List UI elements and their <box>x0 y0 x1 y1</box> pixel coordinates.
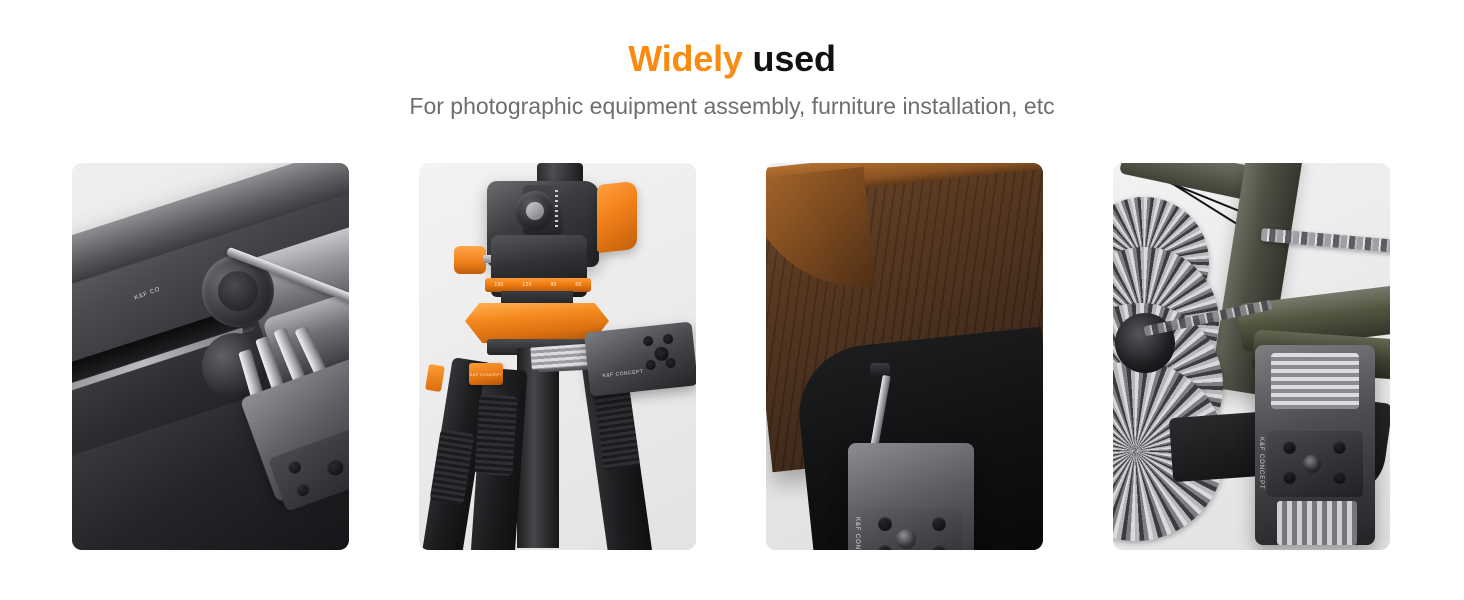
tripod-panorama-ring: 150 120 90 60 <box>485 278 591 292</box>
tripod-leg-lock[interactable]: K&F CONCEPT <box>469 363 503 385</box>
page-title: Widely used <box>0 0 1464 80</box>
bicycle-illustration: K&F CONCEPT <box>1113 163 1390 550</box>
plate-hole <box>1333 441 1346 454</box>
lens-mount-illustration: K&F CO <box>72 163 349 550</box>
brand-logo-text: K&F CONCEPT <box>469 363 503 385</box>
use-case-tile-furniture: K&F CONCEPT <box>766 163 1043 550</box>
widely-used-banner: Widely used For photographic equipment a… <box>0 0 1464 600</box>
panorama-degree-ticks: 150 120 90 60 <box>485 278 591 292</box>
brand-logo-text: K&F CONCEPT <box>1258 437 1264 490</box>
panorama-tick: 90 <box>550 282 556 288</box>
tripod-locking-lever[interactable] <box>597 181 637 253</box>
wood-desk-illustration: K&F CONCEPT <box>766 163 1043 550</box>
plate-hole <box>932 545 946 550</box>
use-case-tile-bicycle: K&F CONCEPT <box>1113 163 1390 550</box>
plate-hole <box>645 360 656 371</box>
multi-tool: K&F CONCEPT <box>1255 345 1375 545</box>
multi-tool: K&F CONCEPT <box>584 322 696 397</box>
brand-logo-text: K&F CONCEPT <box>602 369 643 379</box>
plate-center-hole <box>896 529 916 549</box>
panorama-tick: 120 <box>522 282 531 288</box>
tool-bit-stack <box>1271 353 1359 409</box>
plate-hole <box>643 336 654 347</box>
mount-ring-upper-inner <box>218 271 258 311</box>
plate-center-hole <box>324 456 346 478</box>
plate-hole <box>295 481 312 498</box>
plate-hole <box>878 517 892 531</box>
plate-hole <box>1283 441 1296 454</box>
panorama-tick: 60 <box>575 282 581 288</box>
tripod-ball-socket <box>515 191 555 231</box>
panorama-tick: 150 <box>494 282 503 288</box>
use-case-tile-lens-mount: K&F CO <box>72 163 349 550</box>
tripod-leg-grip <box>474 394 517 476</box>
use-case-tile-row: K&F CO 150 120 90 60 <box>72 163 1392 550</box>
page-subtitle: For photographic equipment assembly, fur… <box>0 80 1464 121</box>
plate-hole <box>1283 471 1296 484</box>
page-title-accent: Widely <box>628 38 743 79</box>
plate-hole <box>663 334 674 345</box>
use-case-tile-tripod: 150 120 90 60 <box>419 163 696 550</box>
plate-hole <box>878 545 892 550</box>
tripod-illustration: 150 120 90 60 <box>419 163 696 550</box>
plate-center-hole <box>1303 455 1321 473</box>
plate-hole <box>932 517 946 531</box>
tripod-pan-knob[interactable] <box>454 246 486 274</box>
bicycle-derailleur <box>1169 412 1265 482</box>
brand-logo-text: K&F CONCEPT <box>854 517 860 550</box>
tool-bit-stack-lower <box>1277 501 1357 545</box>
plate-hole <box>665 357 676 368</box>
plate-hole <box>1333 471 1346 484</box>
banner-header: Widely used For photographic equipment a… <box>0 0 1464 121</box>
page-title-rest: used <box>743 38 836 79</box>
plate-hole <box>286 459 303 476</box>
multi-tool: K&F CONCEPT <box>848 443 974 550</box>
